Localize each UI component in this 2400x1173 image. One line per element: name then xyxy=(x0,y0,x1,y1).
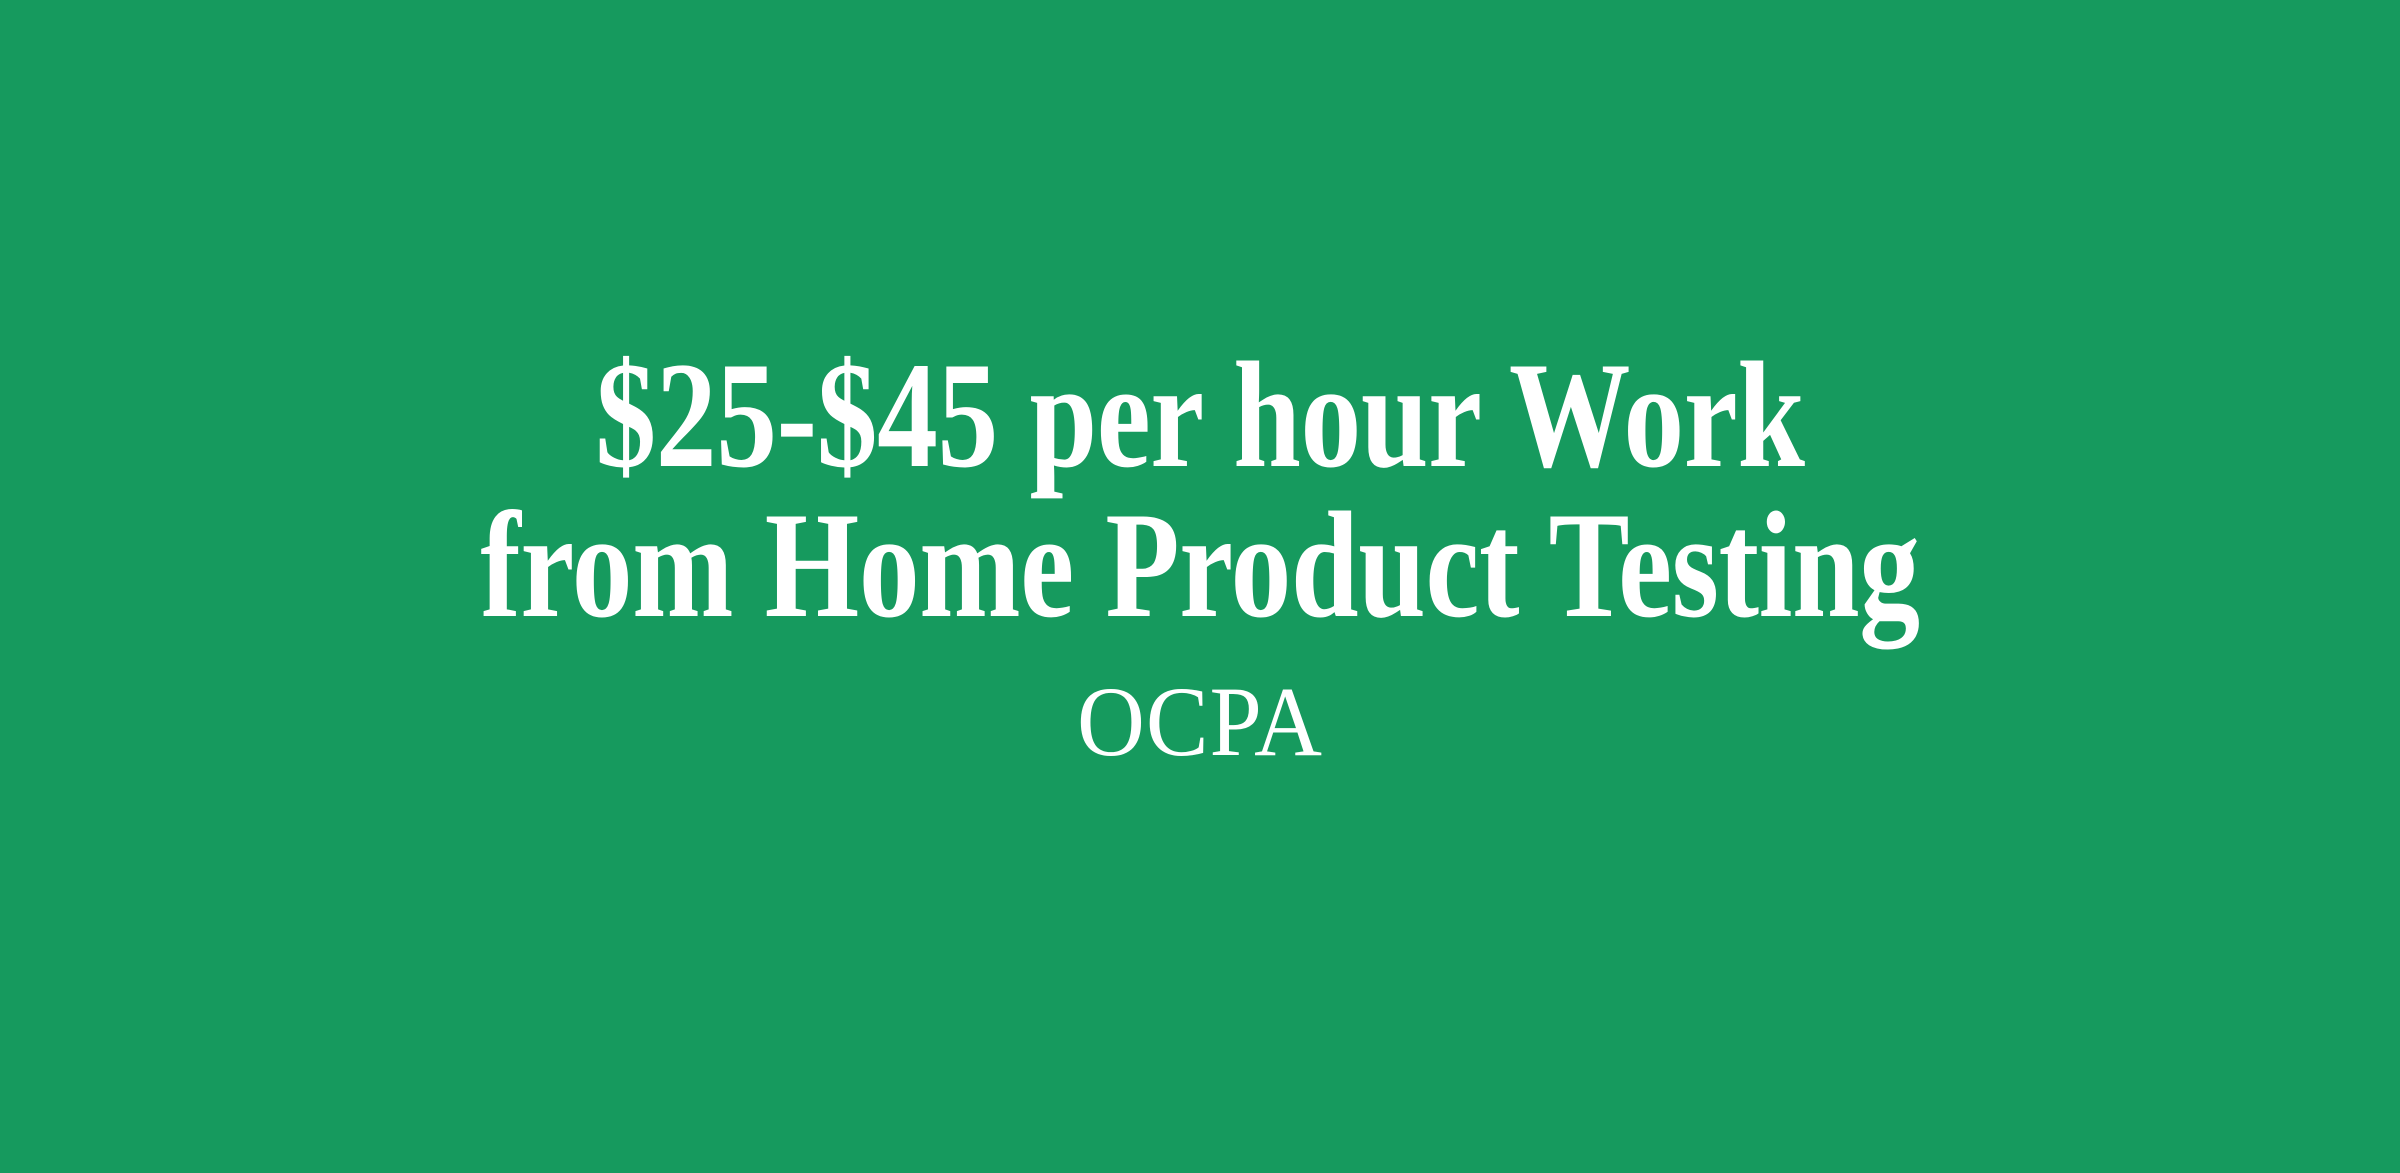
card-content: $25-$45 per hour Work from Home Product … xyxy=(280,340,2120,774)
page-title: $25-$45 per hour Work from Home Product … xyxy=(464,340,1936,640)
subtitle-organization: OCPA xyxy=(335,670,2065,774)
social-share-card: $25-$45 per hour Work from Home Product … xyxy=(0,0,2400,1173)
